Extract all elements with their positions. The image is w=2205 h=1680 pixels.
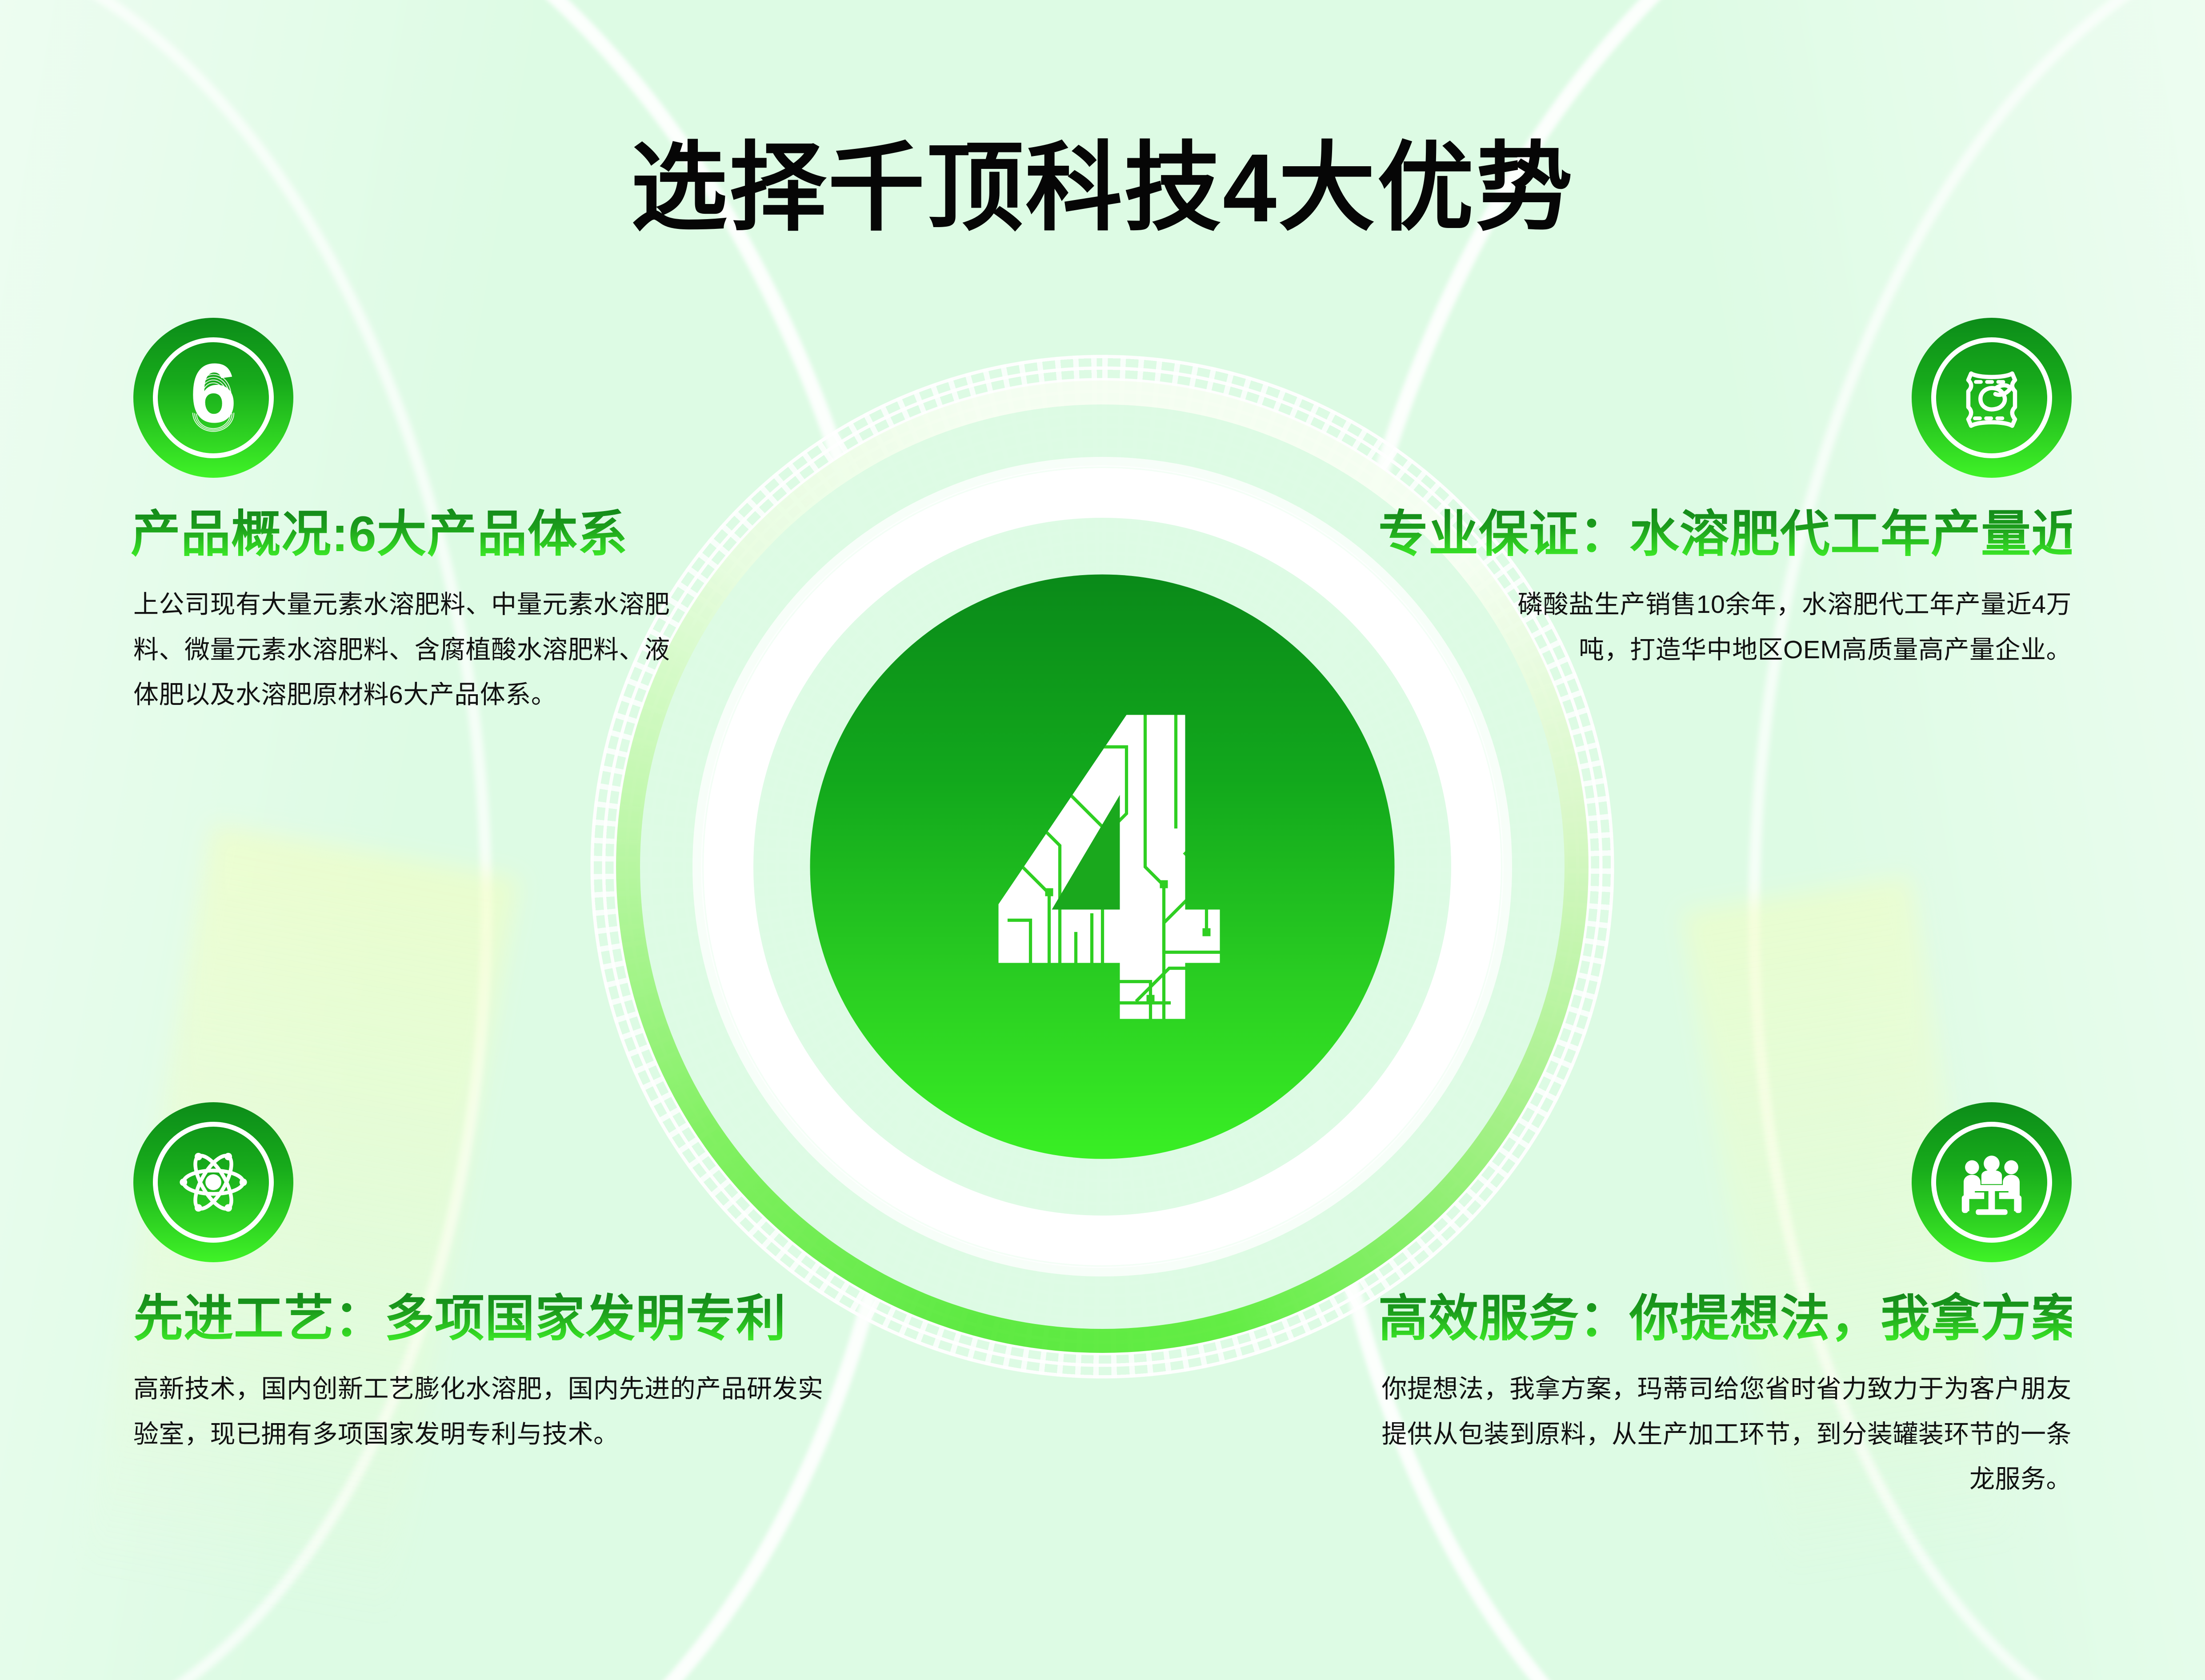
meeting-team-glyph-icon [1945, 1136, 2038, 1229]
advantages-poster: 选择千顶科技4大优势 6 产品概况:6大产品体系 上公司现有大量元素水溶肥料、中… [0, 0, 2205, 1680]
center-green-disc [810, 575, 1395, 1159]
six-glyph-icon: 6 [167, 351, 260, 444]
advantage-body: 你提想法，我拿方案，玛蒂司给您省时省力致力于为客户朋友提供从包装到原料，从生产加… [1378, 1367, 2072, 1502]
meeting-team-icon [1912, 1102, 2072, 1262]
advantage-card-top-right[interactable]: 专业保证：水溶肥代工年产量近4万吨 磷酸盐生产销售10余年，水溶肥代工年产量近4… [1378, 318, 2072, 672]
advantage-body: 高新技术，国内创新工艺膨化水溶肥，国内先进的产品研发实验室，现已拥有多项国家发明… [133, 1367, 827, 1457]
advantage-card-bottom-right[interactable]: 高效服务：你提想法，我拿方案 你提想法，我拿方案，玛蒂司给您省时省力致力于为客户… [1378, 1102, 2072, 1502]
advantage-card-top-left[interactable]: 6 产品概况:6大产品体系 上公司现有大量元素水溶肥料、中量元素水溶肥料、微量元… [133, 318, 827, 718]
atom-icon [133, 1102, 293, 1262]
fertilizer-bag-glyph-icon [1945, 351, 2038, 444]
advantage-body: 磷酸盐生产销售10余年，水溶肥代工年产量近4万吨，打造华中地区OEM高质量高产量… [1516, 582, 2072, 672]
fertilizer-bag-icon [1912, 318, 2072, 478]
atom-glyph-icon [167, 1136, 260, 1229]
svg-text:6: 6 [190, 351, 236, 440]
advantage-title: 先进工艺：多项国家发明专利 [133, 1291, 827, 1346]
number-six-icon: 6 [133, 318, 293, 478]
circuit-number-4-icon [902, 667, 1302, 1067]
advantage-title: 高效服务：你提想法，我拿方案 [1378, 1291, 2072, 1346]
advantage-card-bottom-left[interactable]: 先进工艺：多项国家发明专利 高新技术，国内创新工艺膨化水溶肥，国内先进的产品研发… [133, 1102, 827, 1457]
advantage-title: 专业保证：水溶肥代工年产量近4万吨 [1378, 506, 2072, 562]
page-title: 选择千顶科技4大优势 [0, 109, 2205, 249]
advantage-title: 产品概况:6大产品体系 [131, 506, 827, 562]
advantage-body: 上公司现有大量元素水溶肥料、中量元素水溶肥料、微量元素水溶肥料、含腐植酸水溶肥料… [133, 582, 693, 717]
